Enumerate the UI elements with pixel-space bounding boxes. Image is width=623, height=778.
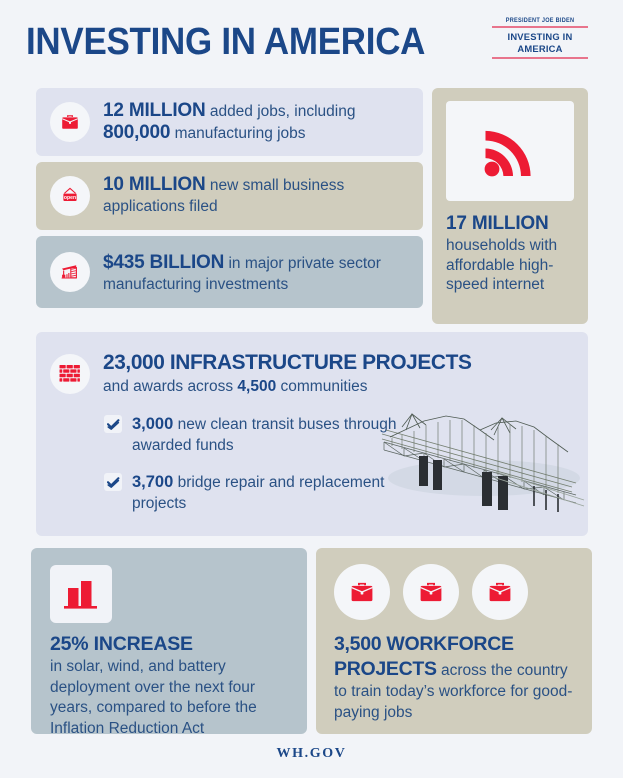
briefcase-icon <box>403 564 459 620</box>
wifi-signal-icon <box>446 101 574 201</box>
stat-internet-text: 17 MILLIONhouseholds with affordable hig… <box>446 212 581 295</box>
svg-text:open: open <box>64 195 76 201</box>
page-title: INVESTING IN AMERICA <box>26 21 425 63</box>
logo-rule-bottom <box>492 57 588 59</box>
infrastructure-panel: 23,000 INFRASTRUCTURE PROJECTS and award… <box>36 332 588 536</box>
stat-internet-value: 17 MILLION <box>446 212 581 236</box>
logo-main-line-1: INVESTING IN <box>492 31 588 43</box>
workforce-text: 3,500 WORKFORCE PROJECTS across the coun… <box>334 632 582 723</box>
bar-chart-icon <box>50 565 112 623</box>
clean-energy-text: 25% INCREASEin solar, wind, and battery … <box>50 632 294 739</box>
stat-jobs-desc-2: manufacturing jobs <box>170 125 305 142</box>
stat-card-jobs: 12 MILLION added jobs, including 800,000… <box>36 88 423 156</box>
stat-jobs-value: 12 MILLION <box>103 100 206 121</box>
stat-jobs-value-2: 800,000 <box>103 122 170 143</box>
briefcase-icon <box>334 564 390 620</box>
brick-wall-icon <box>50 354 90 394</box>
infrastructure-sub-suffix: communities <box>276 378 367 395</box>
bullet-bridge-value: 3,700 <box>132 473 173 491</box>
clean-energy-desc: in solar, wind, and battery deployment o… <box>50 658 257 737</box>
stat-manufacturing-text: $435 BILLION in major private sector man… <box>103 252 415 295</box>
infrastructure-sub-value: 4,500 <box>237 378 276 395</box>
stat-small-business-text: 10 MILLION new small business applicatio… <box>103 174 413 217</box>
briefcase-icon <box>472 564 528 620</box>
stat-jobs-desc-1: added jobs, including <box>206 103 356 120</box>
stat-jobs-text: 12 MILLION added jobs, including 800,000… <box>103 100 413 144</box>
check-icon <box>104 415 122 433</box>
logo-rule-top <box>492 26 588 28</box>
infrastructure-headline: 23,000 INFRASTRUCTURE PROJECTS <box>103 350 559 375</box>
stat-card-internet: 17 MILLIONhouseholds with affordable hig… <box>432 88 588 324</box>
page-header: INVESTING IN AMERICA PRESIDENT JOE BIDEN… <box>0 0 623 86</box>
bullet-buses-value: 3,000 <box>132 415 173 433</box>
investing-in-america-logo: PRESIDENT JOE BIDEN INVESTING IN AMERICA <box>492 17 588 59</box>
check-icon <box>104 473 122 491</box>
stat-card-manufacturing: $435 BILLION in major private sector man… <box>36 236 423 308</box>
clean-energy-value: 25% INCREASE <box>50 632 294 657</box>
workforce-panel: 3,500 WORKFORCE PROJECTS across the coun… <box>316 548 592 734</box>
stat-internet-desc: households with affordable high-speed in… <box>446 237 557 293</box>
stat-card-small-business: open 10 MILLION new small business appli… <box>36 162 423 230</box>
factory-icon <box>50 252 90 292</box>
open-sign-icon: open <box>50 176 90 216</box>
infrastructure-heading: 23,000 INFRASTRUCTURE PROJECTS and award… <box>103 350 573 397</box>
stat-small-business-value: 10 MILLION <box>103 174 206 195</box>
briefcase-icon <box>50 102 90 142</box>
footer-wh-gov[interactable]: WH.GOV <box>0 746 623 762</box>
bridge-illustration <box>376 394 586 512</box>
infrastructure-sub-prefix: and awards across <box>103 378 237 395</box>
logo-main-line-2: AMERICA <box>492 43 588 55</box>
clean-energy-panel: 25% INCREASEin solar, wind, and battery … <box>31 548 307 734</box>
logo-president-line: PRESIDENT JOE BIDEN <box>497 17 583 24</box>
workforce-icon-row <box>334 564 528 620</box>
stat-manufacturing-value: $435 BILLION <box>103 252 224 273</box>
